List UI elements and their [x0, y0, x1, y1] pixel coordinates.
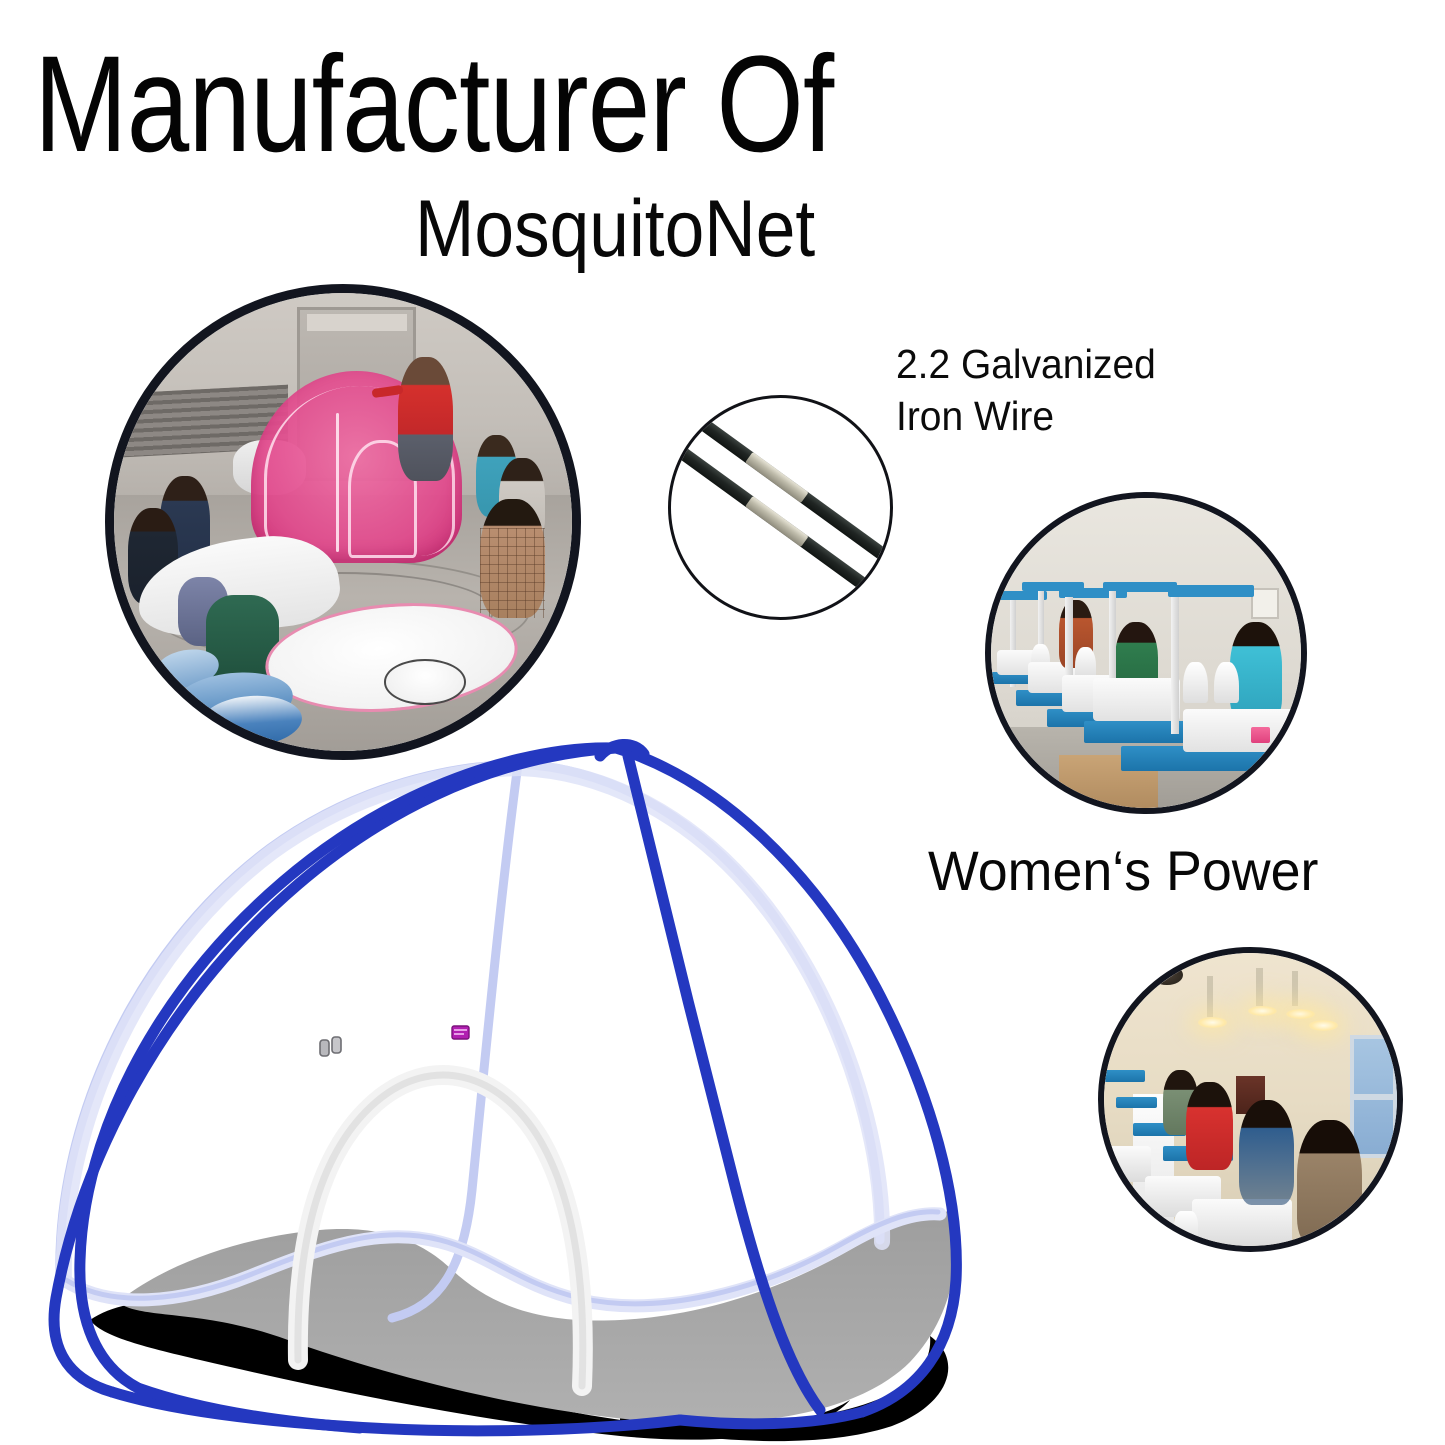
thread-cone-front-2 — [1214, 662, 1239, 702]
light-pipe-3 — [1292, 971, 1298, 1006]
brand-tag — [452, 1026, 469, 1039]
thread-cone-mid-1 — [1075, 647, 1097, 678]
zipper-pull — [320, 1037, 341, 1056]
factory-floor-photo — [105, 284, 581, 760]
tent-inner-seams — [60, 764, 880, 1318]
sewing-row-photo-inner — [991, 498, 1301, 808]
factory-floor-photo-inner — [114, 293, 572, 751]
lamp-post-front — [1171, 597, 1179, 733]
worker-red-shirt — [398, 357, 453, 481]
woman-sewing-1 — [1230, 622, 1283, 721]
sewing-row-photo — [985, 492, 1307, 814]
iron-wire-photo-inner — [671, 398, 890, 617]
woman-warm-2 — [1239, 1100, 1295, 1205]
wire-ferrule-upper — [745, 452, 808, 503]
sewing-machine-warm-3 — [1192, 1199, 1292, 1246]
ceiling-lamp-4 — [1309, 1020, 1338, 1030]
lamp-arm-front — [1168, 585, 1255, 597]
wire-ferrule-lower — [745, 496, 808, 547]
white-disc — [384, 659, 466, 704]
page-subtitle: MosquitoNet — [415, 189, 815, 270]
iron-wire-photo — [668, 395, 893, 620]
sewing-machine-mid-2 — [1093, 678, 1180, 721]
iron-wire-label: 2.2 Galvanized Iron Wire — [896, 338, 1156, 443]
iron-wire-label-line2: Iron Wire — [896, 393, 1054, 439]
light-pipe-2 — [1256, 968, 1262, 1006]
lamp-arm-warm-2 — [1116, 1097, 1157, 1109]
ceiling-lamp-2 — [1248, 1006, 1277, 1016]
woman-warm-1 — [1297, 1120, 1361, 1246]
lamp-arm-warm-1 — [1104, 1070, 1145, 1082]
sewing-machine-front — [1183, 709, 1301, 752]
worker-checked-shirt — [480, 499, 544, 618]
light-pipe-1 — [1207, 976, 1213, 1017]
sewing-warm-photo — [1098, 947, 1403, 1252]
ceiling-lamp-3 — [1286, 1009, 1315, 1019]
woman-warm-3 — [1186, 1082, 1233, 1170]
ceiling-fan — [1151, 965, 1183, 986]
sewing-warm-photo-inner — [1104, 953, 1397, 1246]
page-title: Manufacturer Of — [34, 36, 879, 173]
blue-window — [1350, 1035, 1397, 1158]
pink-fabric-piece — [1251, 727, 1270, 743]
tent-floor-mat — [118, 1211, 955, 1423]
iron-wire-rod-lower — [671, 421, 890, 617]
thread-cone-warm — [1174, 1211, 1197, 1246]
iron-wire-rod-upper — [671, 398, 890, 581]
ceiling-lamp-1 — [1198, 1017, 1227, 1027]
sewing-machine-warm-1 — [1104, 1146, 1151, 1181]
pop-up-mosquito-net-tent — [20, 720, 1010, 1445]
poster-canvas: Manufacturer Of MosquitoNet 2.2 Galvaniz… — [0, 0, 1445, 1445]
thread-cone-front-1 — [1183, 662, 1208, 702]
iron-wire-label-line1: 2.2 Galvanized — [896, 341, 1156, 387]
